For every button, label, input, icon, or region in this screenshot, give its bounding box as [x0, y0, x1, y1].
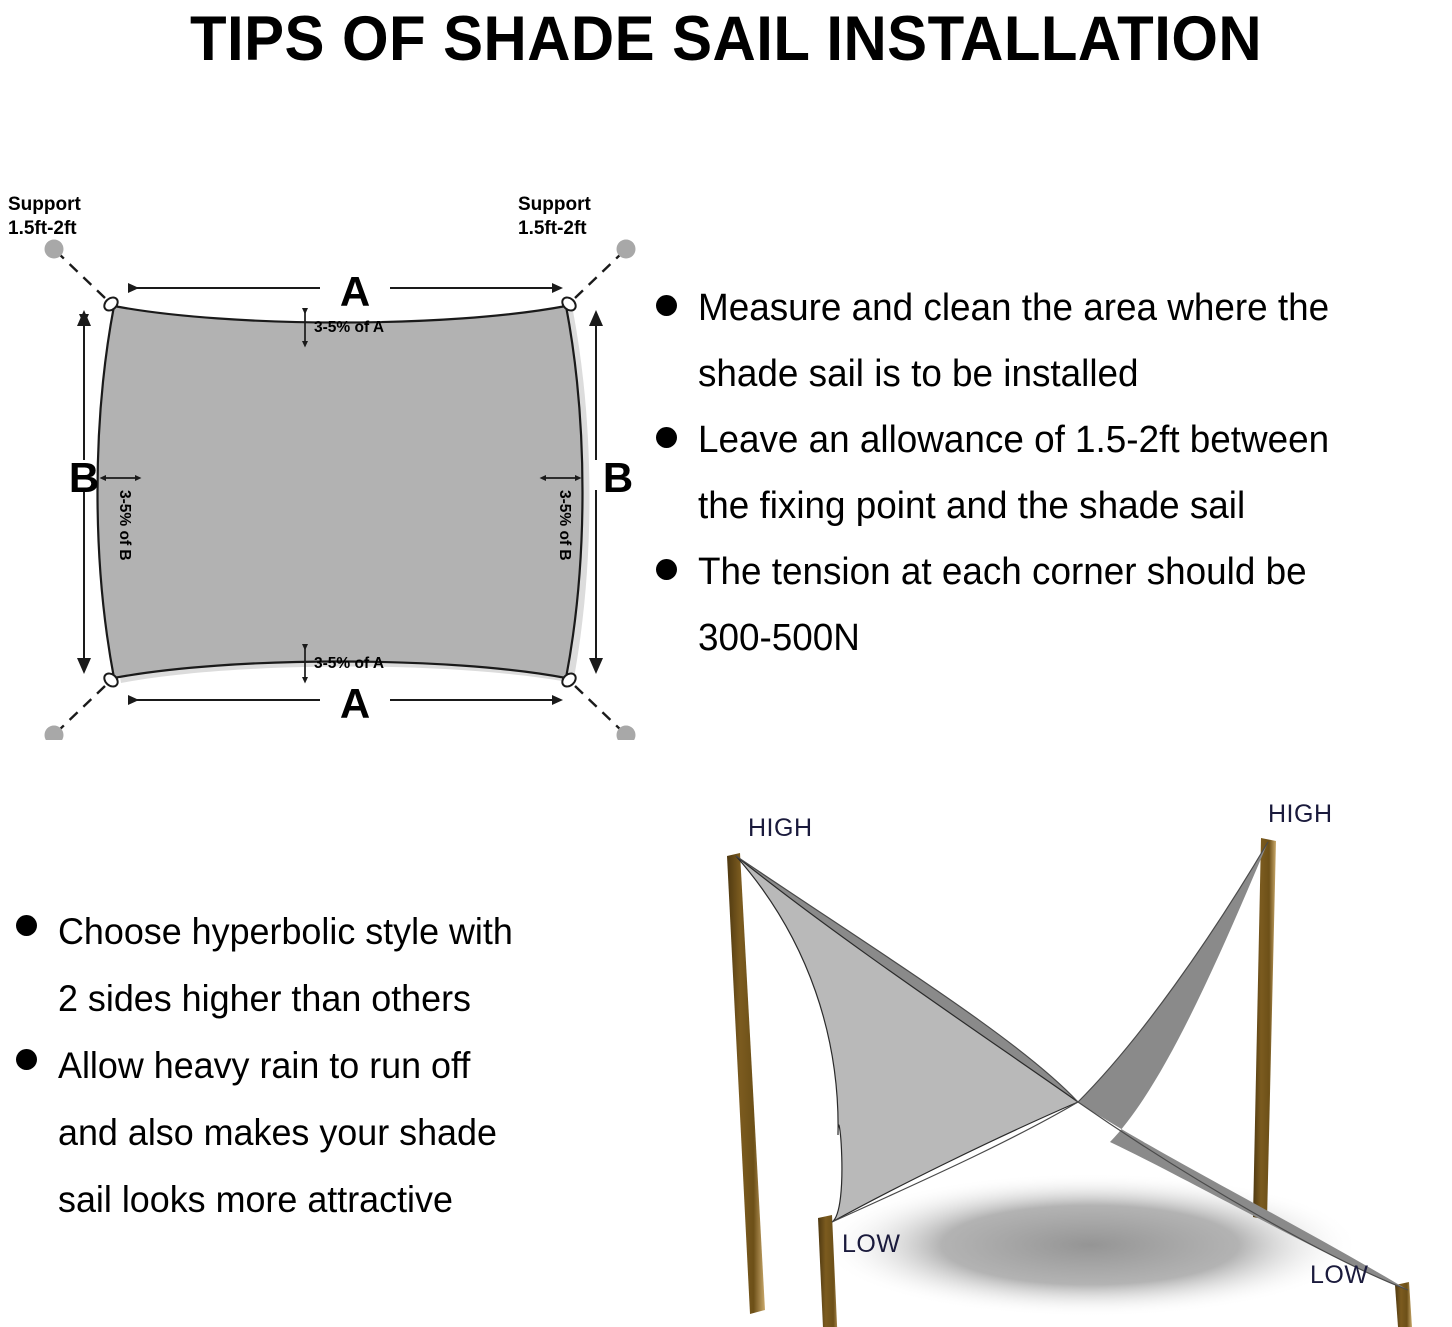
dimension-label-b-right: B — [603, 454, 633, 501]
rectangular-sail-diagram: Support 1.5ft-2ft Support 1.5ft-2ft Supp… — [0, 160, 680, 740]
dimension-label-a-top: A — [340, 268, 370, 315]
label-high-back-left: HIGH — [748, 814, 813, 842]
support-dot-top-left — [45, 240, 64, 259]
list-item: Allow heavy rain to run off and also mak… — [0, 1032, 630, 1233]
list-item: The tension at each corner should be 300… — [640, 539, 1452, 671]
list-item-text: The tension at each corner should be 300… — [698, 539, 1429, 671]
support-cable-bottom-left — [57, 686, 105, 732]
list-item: Leave an allowance of 1.5-2ft between th… — [640, 407, 1452, 539]
dimension-arrow-b-left-down-head — [77, 658, 91, 674]
support-label-top-left: Support 1.5ft-2ft — [8, 194, 86, 239]
page-title: TIPS OF SHADE SAIL INSTALLATION — [36, 0, 1415, 74]
list-item: Choose hyperbolic style with 2 sides hig… — [0, 898, 630, 1032]
bullet-dot-icon — [16, 915, 37, 936]
support-label-top-right: Support 1.5ft-2ft — [518, 194, 596, 239]
hyperbolic-sail-diagram: HIGH HIGH LOW LOW — [690, 790, 1452, 1327]
label-low-front-right: LOW — [1310, 1261, 1368, 1289]
bullet-dot-icon — [656, 427, 677, 448]
dimension-label-a-bottom: A — [340, 680, 370, 727]
dimension-label-b-left: B — [69, 454, 99, 501]
tolerance-label-a-top: 3-5% of A — [314, 319, 384, 336]
ground-shadow — [820, 1173, 1360, 1317]
bullet-dot-icon — [656, 295, 677, 316]
shade-sail-shape — [98, 306, 583, 678]
post-back-right — [1253, 838, 1276, 1220]
label-low-front-left: LOW — [842, 1230, 900, 1258]
sail-lobe-light — [736, 856, 1078, 1222]
dimension-arrow-b-left-up-head — [77, 310, 91, 326]
list-item-text: Leave an allowance of 1.5-2ft between th… — [698, 407, 1429, 539]
tolerance-label-b-left: 3-5% of B — [116, 490, 133, 561]
label-high-back-right: HIGH — [1268, 800, 1333, 828]
bullet-dot-icon — [656, 559, 677, 580]
list-item-text: Measure and clean the area where the sha… — [698, 275, 1429, 407]
support-dot-top-right — [617, 240, 636, 259]
dimension-arrow-b-right-down-head — [589, 658, 603, 674]
tolerance-label-a-bottom: 3-5% of A — [314, 655, 384, 672]
support-cable-top-right — [575, 252, 623, 298]
list-item-text: Allow heavy rain to run off and also mak… — [58, 1032, 613, 1233]
bullet-dot-icon — [16, 1049, 37, 1070]
list-item: Measure and clean the area where the sha… — [640, 275, 1452, 407]
post-back-left — [727, 853, 765, 1314]
support-cable-top-left — [57, 252, 105, 298]
support-cable-bottom-right — [575, 686, 623, 732]
installation-tips-list: Measure and clean the area where the sha… — [640, 275, 1452, 671]
hyperbolic-style-tips-list: Choose hyperbolic style with 2 sides hig… — [0, 898, 630, 1233]
list-item-text: Choose hyperbolic style with 2 sides hig… — [58, 898, 613, 1032]
tolerance-label-b-right: 3-5% of B — [556, 490, 573, 561]
